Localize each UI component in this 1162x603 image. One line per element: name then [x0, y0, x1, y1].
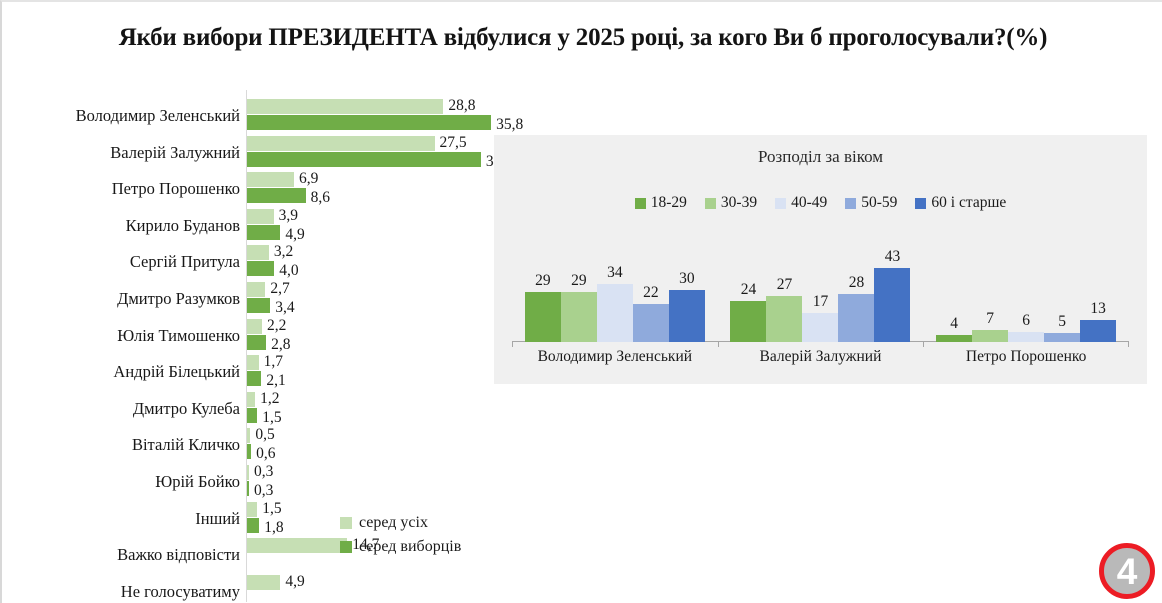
bar-value-among-all: 1,7 — [264, 354, 283, 370]
age-bar-value: 27 — [766, 277, 802, 293]
age-bar-value: 29 — [525, 273, 561, 289]
bar-among-voters — [247, 481, 249, 496]
bar-value-among-voters: 4,9 — [285, 227, 304, 243]
bar-value-among-all: 27,5 — [440, 135, 467, 151]
candidate-support-bar-chart: Володимир Зеленський28,835,8Валерій Залу… — [2, 90, 502, 602]
age-bar: 34 — [597, 284, 633, 342]
age-bar-fill — [525, 292, 561, 342]
age-bar-fill — [669, 290, 705, 342]
age-group-label: Валерій Залужний — [718, 348, 924, 366]
age-bar: 30 — [669, 290, 705, 342]
age-breakdown-title: Розподіл за віком — [494, 147, 1147, 167]
bar-among-all — [247, 136, 435, 151]
age-breakdown-plot: 2929342230Володимир Зеленський2427172843… — [512, 230, 1129, 342]
age-bar: 29 — [525, 292, 561, 342]
age-bar-fill — [1044, 333, 1080, 342]
candidate-label: Сергій Притула — [130, 254, 240, 271]
age-legend-label: 60 і старше — [931, 194, 1006, 212]
bar-value-among-voters: 0,6 — [256, 446, 275, 462]
bar-value-among-all: 2,2 — [267, 318, 286, 334]
age-bar: 27 — [766, 296, 802, 342]
age-bar: 13 — [1080, 320, 1116, 342]
bar-among-all — [247, 99, 443, 114]
candidate-label: Кирило Буданов — [126, 218, 240, 235]
age-bar: 6 — [1008, 332, 1044, 342]
age-legend-item: 40-49 — [775, 194, 827, 212]
age-bar-value: 4 — [936, 316, 972, 332]
age-bar-fill — [972, 330, 1008, 342]
legend-item-all: серед усіх — [340, 511, 461, 535]
bar-among-voters — [247, 444, 251, 459]
bar-value-among-all: 3,9 — [279, 208, 298, 224]
age-axis-tick — [512, 341, 513, 347]
age-legend-item: 60 і старше — [915, 194, 1006, 212]
candidate-label: Юрій Бойко — [155, 474, 240, 491]
age-group-label: Володимир Зеленський — [512, 348, 718, 366]
age-bar: 22 — [633, 304, 669, 342]
age-legend-item: 50-59 — [845, 194, 897, 212]
bar-among-all — [247, 502, 257, 517]
age-bar-value: 22 — [633, 285, 669, 301]
legend-label-voters: серед виборців — [359, 538, 461, 556]
age-group: 476513Петро Порошенко — [923, 230, 1129, 342]
legend-item-voters: серед виборців — [340, 535, 461, 559]
age-axis-tick — [1128, 341, 1129, 347]
candidate-label: Юлія Тимошенко — [117, 328, 240, 345]
age-bar: 24 — [730, 301, 766, 342]
age-bar: 7 — [972, 330, 1008, 342]
age-group: 2427172843Валерій Залужний — [718, 230, 924, 342]
bar-among-voters — [247, 152, 481, 167]
bar-value-among-voters: 2,8 — [271, 337, 290, 353]
candidate-label: Дмитро Разумков — [117, 291, 240, 308]
candidate-label: Дмитро Кулеба — [133, 401, 240, 418]
age-axis-tick — [718, 341, 719, 347]
age-bar: 17 — [802, 313, 838, 342]
bar-among-all — [247, 245, 269, 260]
age-bar-fill — [633, 304, 669, 342]
age-legend-label: 50-59 — [861, 194, 897, 212]
candidate-label: Андрій Білецький — [113, 364, 240, 381]
age-group-bars: 2929342230 — [512, 230, 718, 342]
age-bar-fill — [561, 292, 597, 342]
candidate-label: Інший — [195, 511, 240, 528]
bar-among-all — [247, 428, 250, 443]
age-legend-item: 30-39 — [705, 194, 757, 212]
bar-value-among-voters: 2,1 — [266, 373, 285, 389]
left-chart-legend: серед усіх серед виборців — [340, 511, 461, 559]
age-breakdown-legend: 18-2930-3940-4950-5960 і старше — [494, 194, 1147, 212]
legend-swatch-voters-icon — [340, 541, 352, 553]
bar-among-all — [247, 209, 274, 224]
bar-among-all — [247, 282, 265, 297]
age-legend-item: 18-29 — [635, 194, 687, 212]
age-bar-fill — [838, 294, 874, 342]
candidate-label: Віталій Кличко — [132, 437, 240, 454]
age-bar-fill — [1080, 320, 1116, 342]
bar-among-voters — [247, 115, 491, 130]
bar-value-among-all: 6,9 — [299, 171, 318, 187]
bar-value-among-voters: 35,8 — [496, 117, 523, 133]
age-bar-fill — [766, 296, 802, 342]
age-bar-value: 28 — [838, 275, 874, 291]
bar-among-voters — [247, 225, 280, 240]
age-group: 2929342230Володимир Зеленський — [512, 230, 718, 342]
slide-canvas: Якби вибори ПРЕЗИДЕНТА відбулися у 2025 … — [0, 0, 1162, 603]
candidate-label: Важко відповісти — [117, 547, 240, 564]
age-legend-swatch-icon — [705, 198, 716, 209]
bar-value-among-voters: 3,4 — [275, 300, 294, 316]
age-group-label: Петро Порошенко — [923, 348, 1129, 366]
age-bar-value: 7 — [972, 311, 1008, 327]
age-legend-swatch-icon — [635, 198, 646, 209]
age-bar-fill — [1008, 332, 1044, 342]
bar-value-among-all: 0,5 — [255, 427, 274, 443]
bar-value-among-all: 28,8 — [448, 98, 475, 114]
age-bar: 28 — [838, 294, 874, 342]
age-group-bars: 2427172843 — [718, 230, 924, 342]
bar-among-all — [247, 172, 294, 187]
candidate-label: Володимир Зеленський — [76, 108, 240, 125]
bar-among-all — [247, 392, 255, 407]
age-breakdown-panel: Розподіл за віком 18-2930-3940-4950-5960… — [494, 135, 1147, 384]
age-legend-label: 18-29 — [651, 194, 687, 212]
bar-among-all — [247, 355, 259, 370]
bar-among-all — [247, 319, 262, 334]
bar-among-all — [247, 538, 347, 553]
bar-among-voters — [247, 335, 266, 350]
bar-value-among-all: 1,2 — [260, 391, 279, 407]
age-legend-swatch-icon — [775, 198, 786, 209]
age-bar-value: 6 — [1008, 313, 1044, 329]
age-group-bars: 476513 — [923, 230, 1129, 342]
bar-among-voters — [247, 188, 306, 203]
age-bar-value: 29 — [561, 273, 597, 289]
bar-value-among-all: 4,9 — [285, 574, 304, 590]
bar-value-among-voters: 4,0 — [279, 263, 298, 279]
age-bar: 43 — [874, 268, 910, 342]
age-bar-value: 34 — [597, 265, 633, 281]
age-legend-swatch-icon — [915, 198, 926, 209]
bar-among-voters — [247, 408, 257, 423]
legend-label-all: серед усіх — [359, 514, 428, 532]
candidate-label: Петро Порошенко — [112, 181, 240, 198]
bar-among-voters — [247, 261, 274, 276]
bar-value-among-voters: 8,6 — [311, 190, 330, 206]
age-bar-value: 24 — [730, 282, 766, 298]
candidate-label: Не голосуватиму — [121, 584, 240, 601]
bar-among-voters — [247, 371, 261, 386]
logo-number: 4 — [1099, 543, 1155, 599]
age-bar-fill — [597, 284, 633, 342]
age-legend-swatch-icon — [845, 198, 856, 209]
age-bar-value: 5 — [1044, 314, 1080, 330]
bar-value-among-all: 3,2 — [274, 244, 293, 260]
age-bar: 5 — [1044, 333, 1080, 342]
age-bar-value: 43 — [874, 249, 910, 265]
bar-value-among-voters: 1,5 — [262, 410, 281, 426]
age-bar-fill — [730, 301, 766, 342]
age-bar-fill — [874, 268, 910, 342]
age-bar-value: 13 — [1080, 301, 1116, 317]
age-axis-tick — [923, 341, 924, 347]
bar-value-among-all: 0,3 — [254, 464, 273, 480]
bar-among-voters — [247, 298, 270, 313]
age-legend-label: 30-39 — [721, 194, 757, 212]
channel-logo: 4 — [1099, 543, 1155, 599]
age-bar-value: 17 — [802, 294, 838, 310]
age-bar-fill — [802, 313, 838, 342]
bar-value-among-all: 2,7 — [270, 281, 289, 297]
age-bar: 29 — [561, 292, 597, 342]
bar-among-all — [247, 465, 249, 480]
age-bar-fill — [936, 335, 972, 342]
bar-value-among-voters: 0,3 — [254, 483, 273, 499]
age-bar: 4 — [936, 335, 972, 342]
legend-swatch-all-icon — [340, 517, 352, 529]
candidate-label: Валерій Залужний — [110, 145, 240, 162]
page-title: Якби вибори ПРЕЗИДЕНТА відбулися у 2025 … — [2, 24, 1162, 52]
bar-among-all — [247, 575, 280, 590]
age-legend-label: 40-49 — [791, 194, 827, 212]
age-bar-value: 30 — [669, 271, 705, 287]
bar-among-voters — [247, 518, 259, 533]
bar-value-among-voters: 1,8 — [264, 520, 283, 536]
bar-value-among-all: 1,5 — [262, 501, 281, 517]
